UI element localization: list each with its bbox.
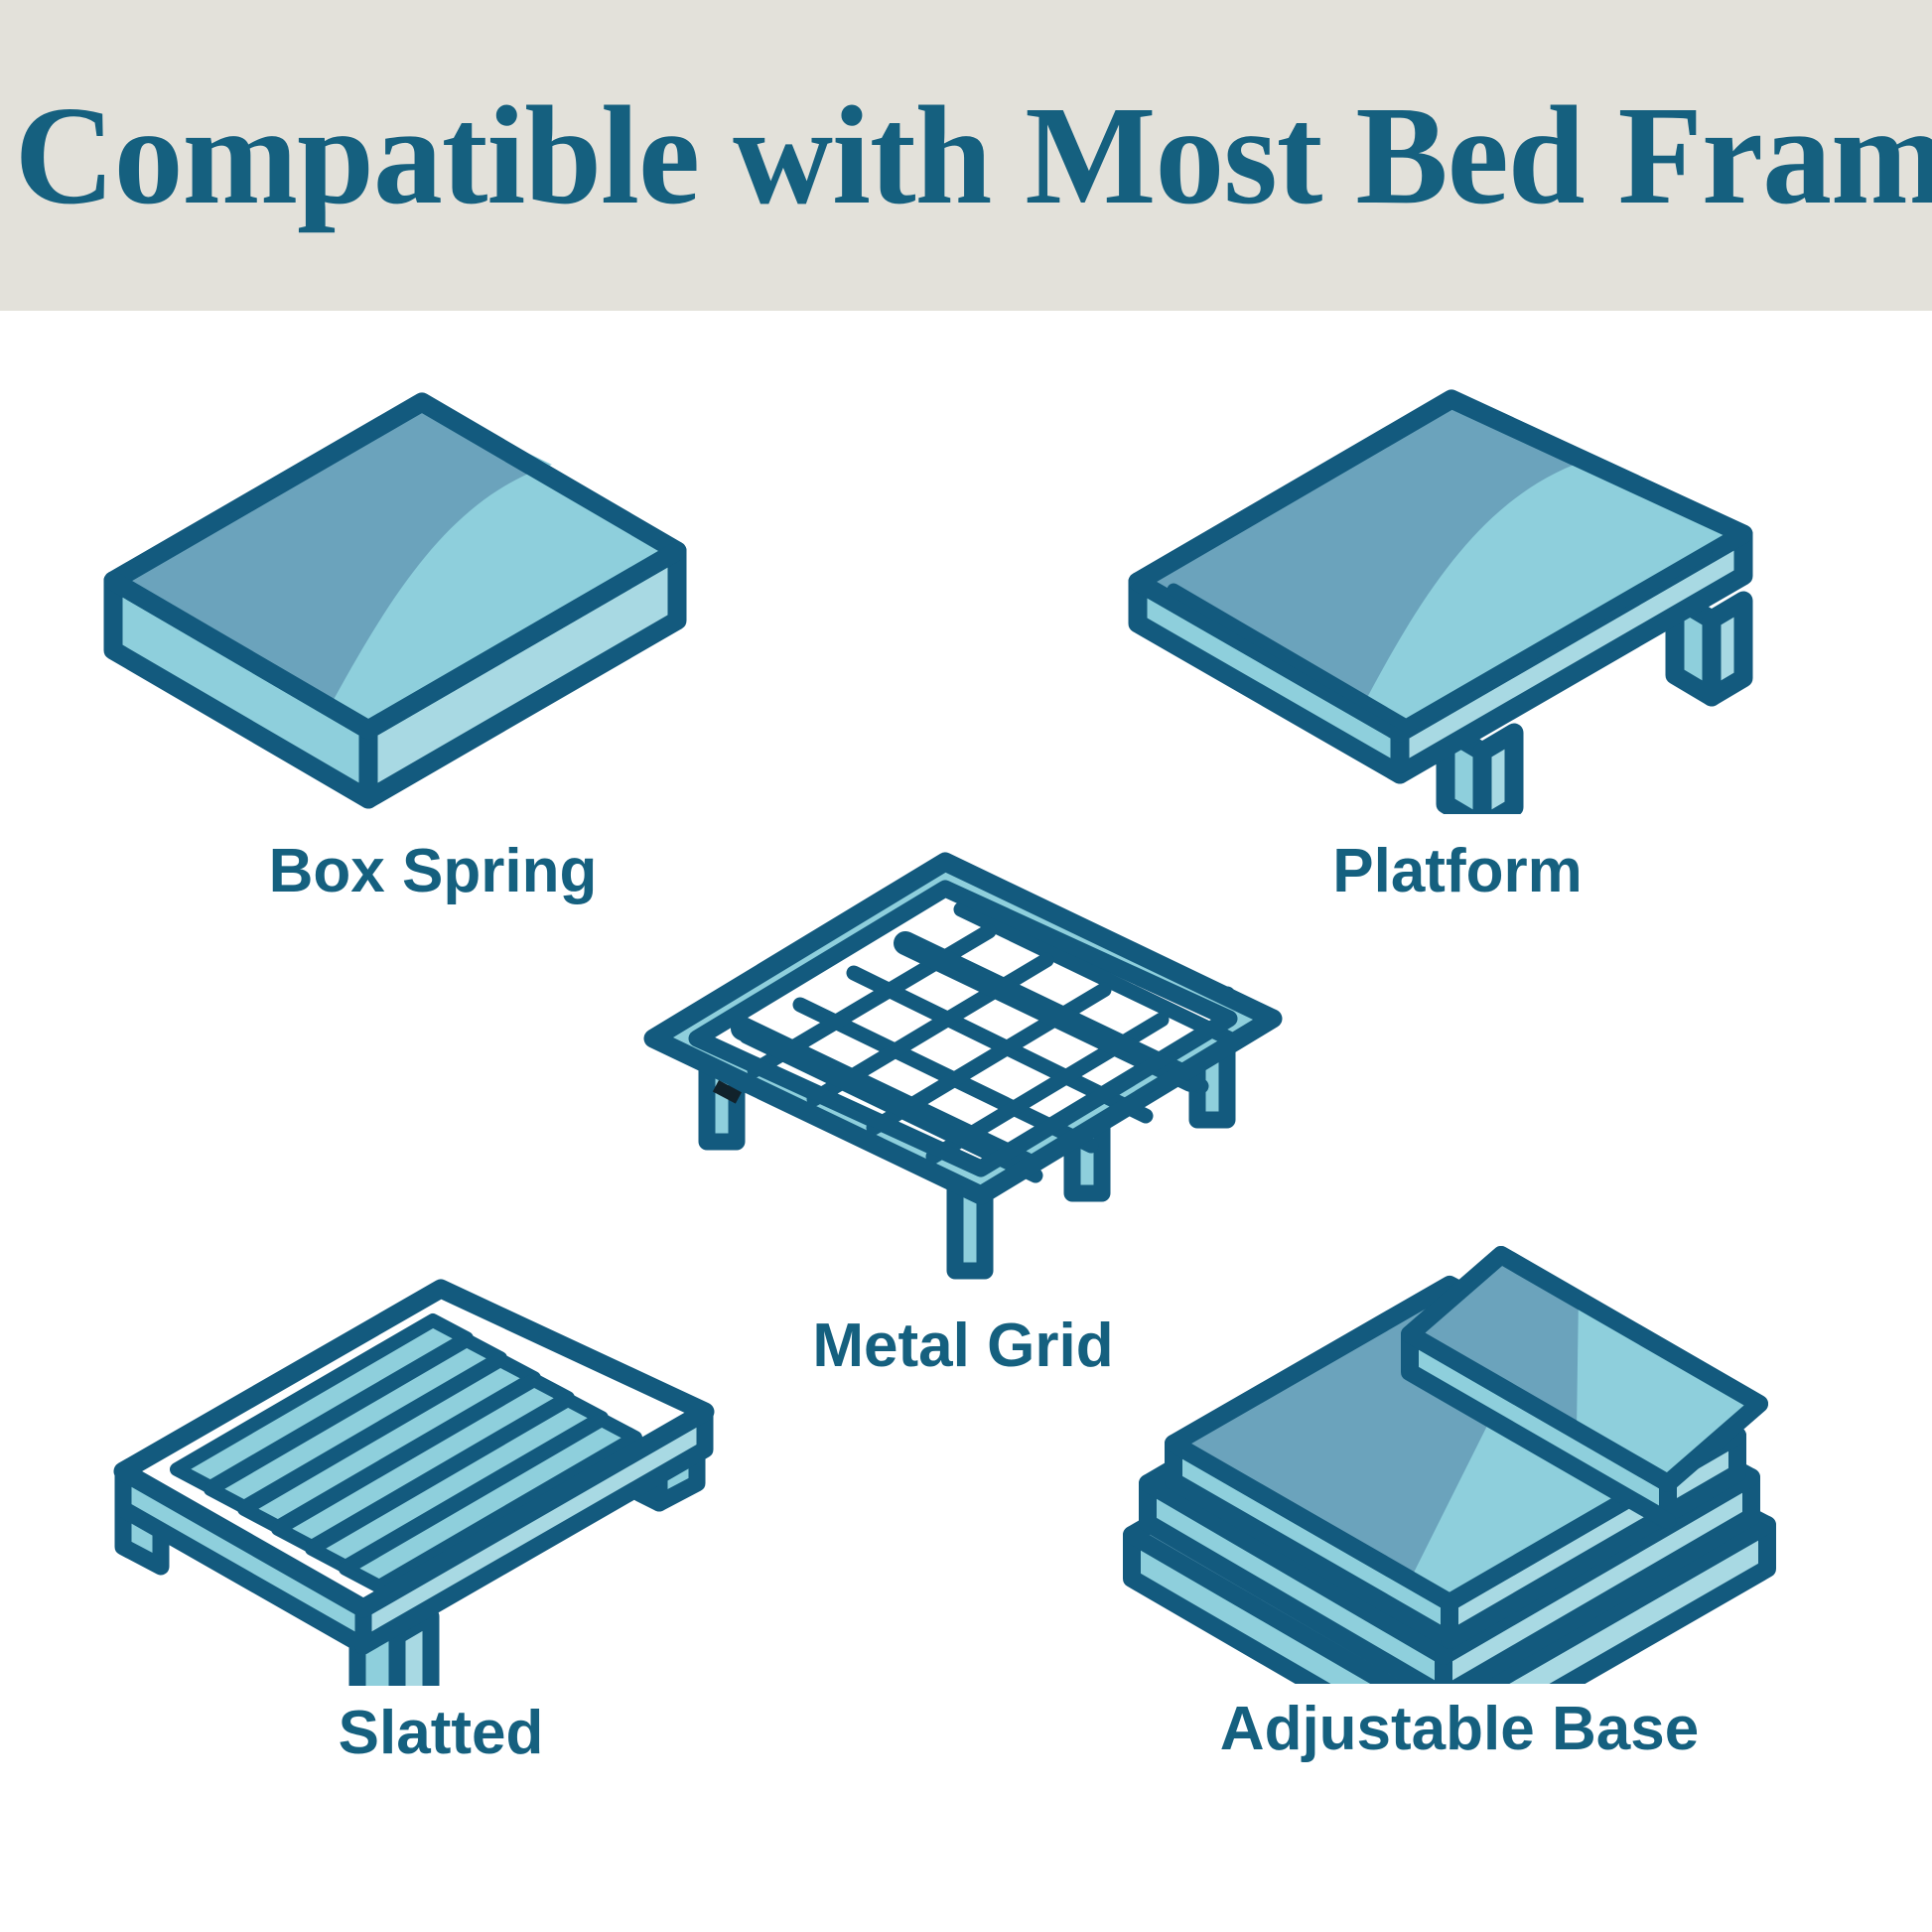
box-spring-icon [95,377,770,814]
slatted-base-icon [103,1249,778,1686]
metal-grid-icon [635,844,1291,1291]
item-adjustable: Adjustable Base [1112,1237,1807,1813]
platform-bed-icon [1120,377,1795,814]
item-label-slatted: Slatted [103,1698,778,1768]
adjustable-base-icon [1112,1237,1807,1684]
infographic-page: Compatible with Most Bed Frames Box Spri… [0,0,1932,1932]
header-banner: Compatible with Most Bed Frames [0,0,1932,311]
page-title: Compatible with Most Bed Frames [15,0,1918,311]
item-slatted: Slatted [103,1249,778,1805]
item-label-adjustable-base: Adjustable Base [1112,1694,1807,1764]
